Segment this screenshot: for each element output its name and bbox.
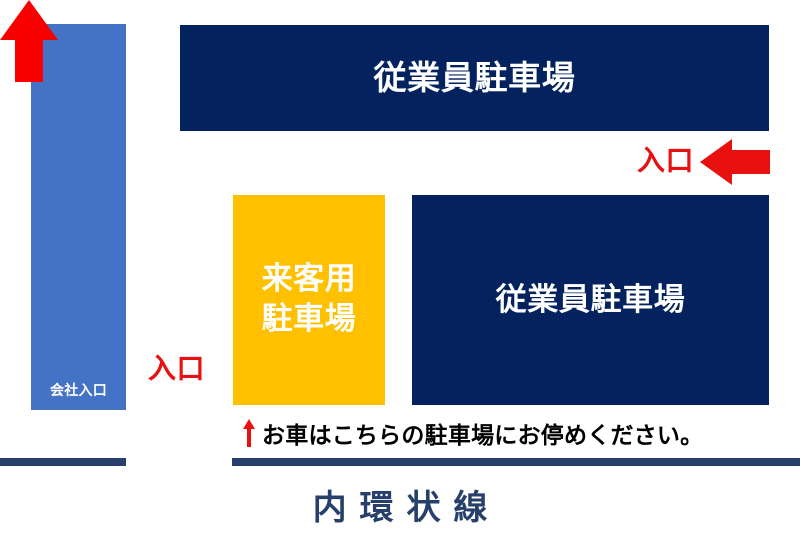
arrow-up-small-shaft [247, 428, 251, 447]
road-name-label: 内環状線 [0, 480, 800, 529]
employee-parking-right-label: 従業員駐車場 [496, 282, 686, 319]
arrow-left-shaft [730, 150, 770, 174]
arrow-up-head [0, 0, 58, 40]
employee-parking-right-block: 従業員駐車場 [412, 195, 769, 405]
visitor-parking-label: 来客用 駐車場 [262, 260, 357, 339]
arrow-up-small-icon [243, 419, 255, 447]
entrance-label-bottom: 入口 [148, 347, 205, 387]
road-line-left [0, 458, 126, 466]
arrow-up-shaft [15, 38, 43, 82]
company-entrance-label: 会社入口 [50, 383, 107, 400]
parking-instruction-text: お車はこちらの駐車場にお停めください。 [262, 416, 703, 450]
employee-parking-top-block: 従業員駐車場 [180, 25, 769, 131]
parking-lot-map: 会社入口 従業員駐車場 来客用 駐車場 従業員駐車場 入口 入口 お車はこちらの… [0, 0, 800, 554]
employee-parking-top-label: 従業員駐車場 [374, 59, 576, 98]
company-building-block: 会社入口 [31, 24, 126, 410]
road-line-right [232, 458, 800, 466]
entrance-label-right: 入口 [637, 139, 694, 179]
visitor-parking-block: 来客用 駐車場 [233, 195, 385, 405]
arrow-left-icon [700, 139, 770, 185]
arrow-left-head [700, 139, 732, 185]
parking-instruction: お車はこちらの駐車場にお停めください。 [243, 416, 703, 450]
